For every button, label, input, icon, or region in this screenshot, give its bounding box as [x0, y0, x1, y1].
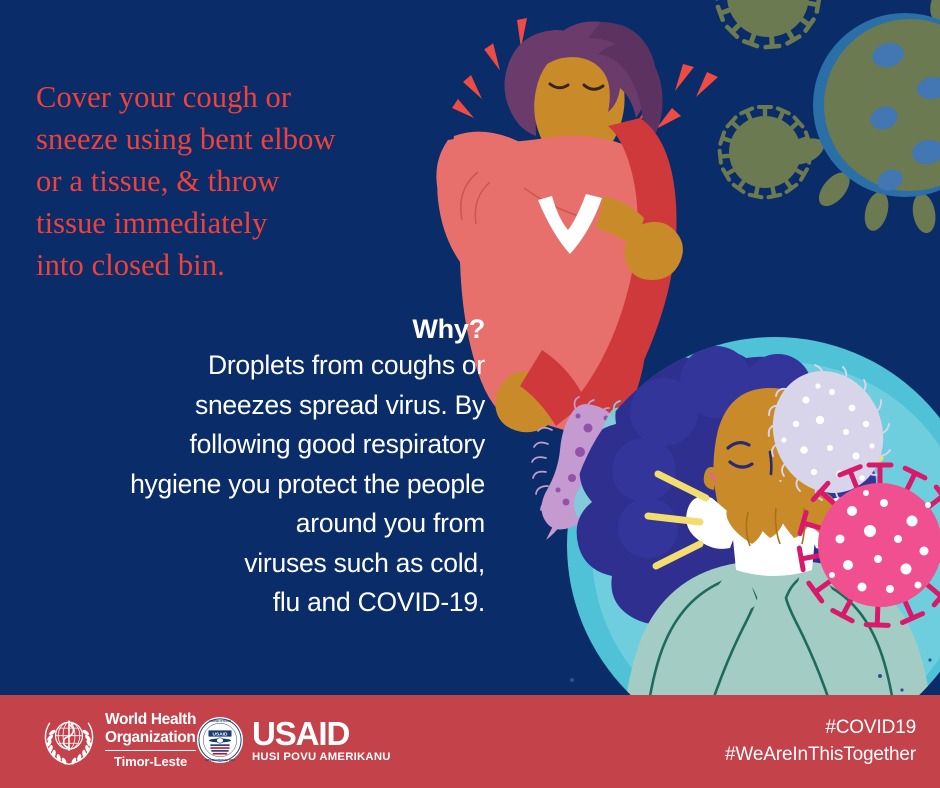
- who-organization-name: World Health Organization: [105, 711, 196, 746]
- who-region-name: Timor-Leste: [105, 754, 196, 769]
- page-title: Cover your cough or sneeze using bent el…: [36, 76, 456, 286]
- who-emblem-icon: [42, 713, 96, 767]
- usaid-seal-icon: UNITED STATES INTERNATIONAL DEV USAID: [196, 716, 244, 764]
- hashtag-weareinthistogether: #WeAreInThisTogether: [725, 742, 916, 769]
- who-wordmark: World Health Organization Timor-Leste: [105, 711, 196, 769]
- why-explanation-block: Why? Droplets from coughs or sneezes spr…: [25, 312, 485, 623]
- hashtag-block: #COVID19 #WeAreInThisTogether: [725, 715, 916, 768]
- usaid-name: USAID: [252, 717, 391, 750]
- svg-text:USAID: USAID: [213, 731, 228, 737]
- why-label: Why?: [25, 312, 485, 346]
- poster-canvas: Cover your cough or sneeze using bent el…: [0, 0, 940, 788]
- who-divider: [105, 750, 196, 752]
- footer-bar: World Health Organization Timor-Leste UN…: [0, 695, 940, 788]
- why-body-text: Droplets from coughs or sneezes spread v…: [25, 346, 485, 623]
- who-logo: World Health Organization Timor-Leste: [42, 711, 196, 769]
- svg-text:INTERNATIONAL DEV: INTERNATIONAL DEV: [205, 758, 235, 762]
- hashtag-covid19: #COVID19: [725, 715, 916, 742]
- usaid-logo: UNITED STATES INTERNATIONAL DEV USAID: [196, 716, 391, 764]
- usaid-wordmark: USAID HUSI POVU AMERIKANU: [252, 717, 391, 763]
- svg-text:UNITED STATES: UNITED STATES: [209, 719, 231, 723]
- usaid-tagline: HUSI POVU AMERIKANU: [252, 751, 391, 763]
